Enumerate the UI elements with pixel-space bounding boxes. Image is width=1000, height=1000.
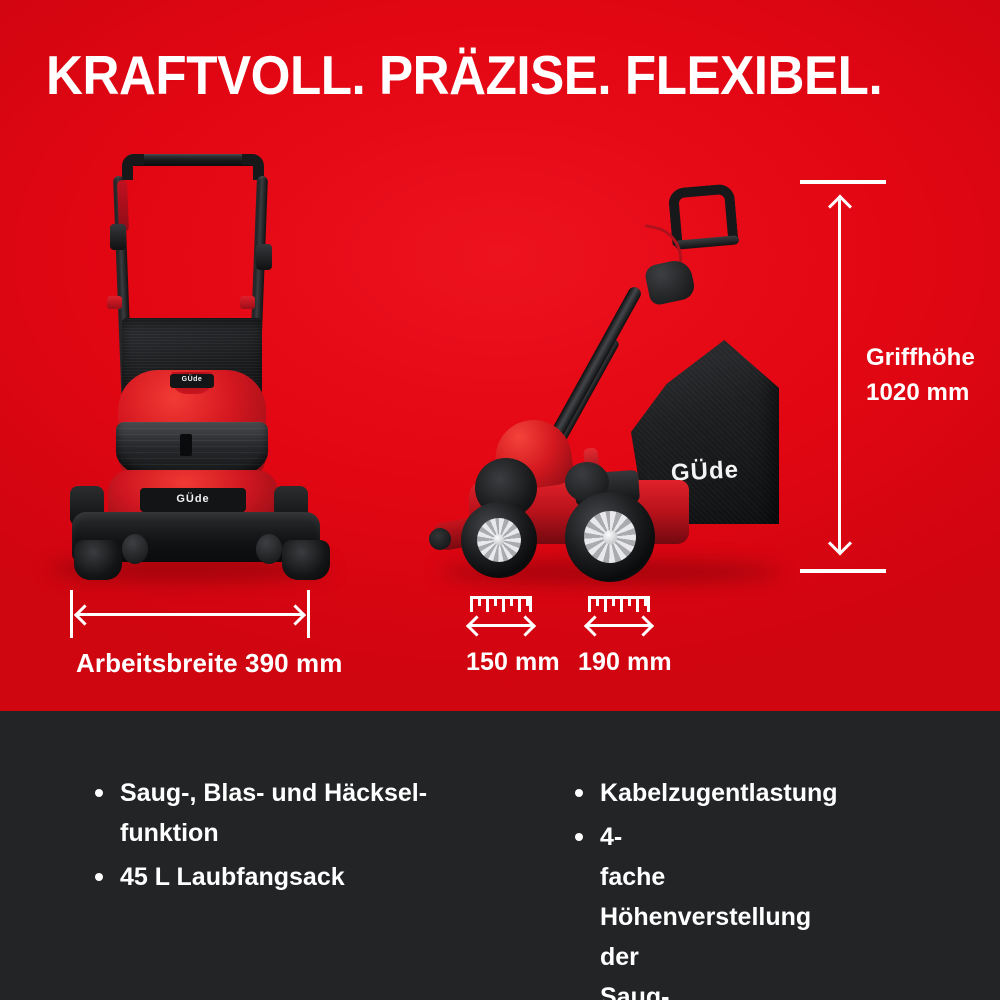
drum-slot xyxy=(180,434,192,456)
wheel-side-front xyxy=(461,502,537,578)
page-title: KRAFTVOLL. PRÄZISE. FLEXIBEL. xyxy=(46,44,882,106)
nozzle-large-ruler-icon xyxy=(588,596,650,614)
hood-logo-plate: GÜde xyxy=(170,374,214,388)
product-side-view: GÜde xyxy=(425,180,825,580)
list-item: 45 L Laubfangsack xyxy=(92,857,462,897)
nozzle-large-label: 190 mm xyxy=(578,648,672,677)
handle-height-label-line1: Griffhöhe xyxy=(866,340,975,375)
feature-list: Saug-, Blas- und Häcksel-funktion 45 L L… xyxy=(0,711,1000,1000)
handle-clamp-right xyxy=(256,244,272,270)
wheel-hub-rear xyxy=(584,511,636,563)
nozzle-small-ruler-icon xyxy=(470,596,532,614)
handle-corner-left xyxy=(122,154,144,180)
caster-left xyxy=(122,534,148,564)
handle-height-arrow xyxy=(838,199,841,551)
nozzle-large-arrow xyxy=(588,624,650,627)
wheel-hub-front xyxy=(477,518,521,562)
list-item: 4-fache Höhenverstellung der Saug- & Bla… xyxy=(572,817,600,1000)
hood-logo-text: GÜde xyxy=(170,376,214,383)
wheel-front-right xyxy=(282,540,330,580)
handle-height-label-line2: 1020 mm xyxy=(866,375,975,410)
nozzle-small-label: 150 mm xyxy=(466,648,560,677)
switch-box xyxy=(643,258,696,307)
handle-clamp-left xyxy=(110,224,126,250)
height-knob-right xyxy=(240,296,255,309)
handle-height-tick-bottom xyxy=(800,569,886,573)
height-knob-left xyxy=(107,296,122,309)
wheel-side-rear xyxy=(565,492,655,582)
working-width-label: Arbeitsbreite 390 mm xyxy=(76,648,342,679)
infographic-page: KRAFTVOLL. PRÄZISE. FLEXIBEL. GÜde GÜde xyxy=(0,0,1000,1000)
working-width-tick-left xyxy=(70,590,73,638)
list-item: Saug-, Blas- und Häcksel-funktion xyxy=(92,773,462,853)
brand-badge-front: GÜde xyxy=(140,488,246,512)
caster-right xyxy=(256,534,282,564)
working-width-arrow xyxy=(78,613,302,616)
handle-height-label: Griffhöhe 1020 mm xyxy=(866,340,975,410)
nozzle-small-arrow xyxy=(470,624,532,627)
handle-height-tick-top xyxy=(800,180,886,184)
wheel-front-left xyxy=(74,540,122,580)
brand-badge-text: GÜde xyxy=(140,493,246,505)
working-width-tick-right xyxy=(307,590,310,638)
nozzle-roller xyxy=(429,528,451,550)
handle-bar-top xyxy=(126,154,258,166)
list-item: Kabelzugentlastung xyxy=(572,773,600,813)
product-front-view: GÜde GÜde xyxy=(60,140,350,580)
